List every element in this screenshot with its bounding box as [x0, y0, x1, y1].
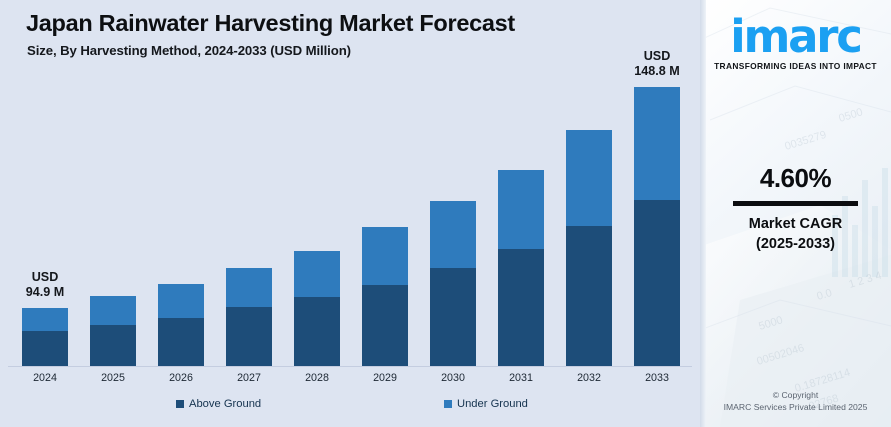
bar-segment-above-ground-2027[interactable]	[226, 307, 272, 366]
cagr-value: 4.60%	[700, 163, 891, 194]
first-bar-currency: USD	[32, 270, 59, 284]
bar-segment-above-ground-2032[interactable]	[566, 226, 612, 366]
page-subtitle: Size, By Harvesting Method, 2024-2033 (U…	[27, 43, 351, 58]
bar-segment-under-ground-2029[interactable]	[362, 227, 408, 285]
bar-segment-under-ground-2025[interactable]	[90, 296, 136, 325]
bar-segment-above-ground-2031[interactable]	[498, 249, 544, 366]
first-bar-value-label: USD 94.9 M	[0, 270, 100, 300]
cagr-block: 4.60% Market CAGR (2025-2033)	[700, 163, 891, 254]
x-axis-line	[8, 366, 692, 367]
bar-segment-under-ground-2028[interactable]	[294, 251, 340, 297]
copyright-line-2: IMARC Services Private Limited 2025	[700, 401, 891, 413]
bar-2024[interactable]	[22, 308, 68, 366]
cagr-period: (2025-2033)	[700, 234, 891, 254]
legend-label-above-ground: Above Ground	[189, 398, 261, 410]
bar-segment-under-ground-2031[interactable]	[498, 170, 544, 249]
bar-segment-under-ground-2030[interactable]	[430, 201, 476, 268]
bar-segment-under-ground-2024[interactable]	[22, 308, 68, 331]
cagr-rule	[733, 201, 858, 206]
chart-legend: Above Ground Under Ground	[0, 396, 700, 416]
bar-2032[interactable]	[566, 130, 612, 366]
bar-segment-above-ground-2030[interactable]	[430, 268, 476, 366]
bar-segment-under-ground-2026[interactable]	[158, 284, 204, 318]
bar-segment-under-ground-2027[interactable]	[226, 268, 272, 307]
copyright-notice: © Copyright IMARC Services Private Limit…	[700, 389, 891, 413]
x-tick-2033: 2033	[617, 372, 697, 384]
bar-segment-above-ground-2029[interactable]	[362, 285, 408, 366]
bar-segment-under-ground-2032[interactable]	[566, 130, 612, 226]
bar-2025[interactable]	[90, 296, 136, 366]
legend-swatch-under-ground-icon	[444, 400, 452, 408]
legend-item-under-ground[interactable]: Under Ground	[444, 398, 528, 410]
bar-segment-above-ground-2024[interactable]	[22, 331, 68, 366]
logo-tagline: TRANSFORMING IDEAS INTO IMPACT	[700, 61, 891, 71]
bar-segment-above-ground-2033[interactable]	[634, 200, 680, 366]
last-bar-currency: USD	[644, 49, 671, 63]
logo-wordmark: imarc	[700, 14, 891, 60]
bar-2033[interactable]	[634, 87, 680, 366]
last-bar-value-label: USD 148.8 M	[602, 49, 712, 79]
bar-segment-above-ground-2028[interactable]	[294, 297, 340, 366]
legend-item-above-ground[interactable]: Above Ground	[176, 398, 261, 410]
copyright-line-1: © Copyright	[700, 389, 891, 401]
last-bar-amount: 148.8 M	[634, 64, 680, 78]
legend-label-under-ground: Under Ground	[457, 398, 528, 410]
cagr-label: Market CAGR	[700, 214, 891, 234]
bar-2030[interactable]	[430, 201, 476, 366]
bar-2028[interactable]	[294, 251, 340, 366]
bar-2027[interactable]	[226, 268, 272, 366]
bar-2029[interactable]	[362, 227, 408, 366]
first-bar-amount: 94.9 M	[26, 285, 65, 299]
imarc-logo: imarc TRANSFORMING IDEAS INTO IMPACT	[700, 14, 891, 71]
chart-panel: Japan Rainwater Harvesting Market Foreca…	[0, 0, 700, 427]
bar-segment-above-ground-2025[interactable]	[90, 325, 136, 366]
page-title: Japan Rainwater Harvesting Market Foreca…	[26, 10, 515, 37]
bar-segment-under-ground-2033[interactable]	[634, 87, 680, 200]
bar-2026[interactable]	[158, 284, 204, 366]
chart-infographic: Japan Rainwater Harvesting Market Foreca…	[0, 0, 891, 427]
bar-2031[interactable]	[498, 170, 544, 366]
brand-panel: 5000 0.0 1 2 3 4 00502046 0035279 0500 0…	[700, 0, 891, 427]
bar-segment-above-ground-2026[interactable]	[158, 318, 204, 366]
legend-swatch-above-ground-icon	[176, 400, 184, 408]
